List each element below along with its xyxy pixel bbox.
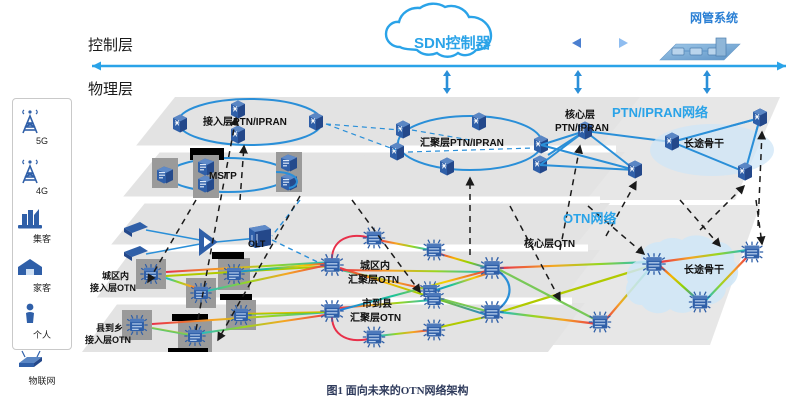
ptn-backbone-label: 长途骨干 — [684, 140, 724, 150]
legend-panel: 5G 4G — [12, 98, 72, 350]
ptn-core-label-line2: PTN/IPRAN — [555, 124, 609, 134]
otn-urban-aggregate-label-line2: 汇聚层OTN — [348, 276, 399, 286]
sdn-controller-label: SDN控制器 — [414, 36, 491, 51]
olt-label: OLT — [248, 240, 265, 249]
otn-backbone-label: 长途骨干 — [684, 266, 724, 276]
otn-core-label: 核心层OTN — [524, 240, 575, 250]
otn-urban-access-label-line1: 城区内 — [102, 272, 129, 281]
enterprise-icon — [13, 205, 47, 231]
legend-item-person[interactable]: 个人 — [13, 301, 71, 341]
iot-router-icon — [13, 349, 47, 373]
figure-caption: 图1 面向未来的OTN网络架构 — [0, 382, 795, 398]
legend-item-4g[interactable]: 4G — [13, 155, 71, 196]
person-icon — [13, 301, 47, 327]
5g-tower-icon — [13, 105, 47, 135]
nms-icon — [660, 38, 740, 60]
otn-county-access-label-line2: 接入层OTN — [85, 336, 131, 345]
otn-city-aggregate-label-line2: 汇聚层OTN — [350, 314, 401, 324]
physical-layer-label: 物理层 — [88, 82, 133, 97]
ptn-access-ring-label: 接入层PTN/IPRAN — [203, 118, 287, 128]
4g-tower-icon — [13, 155, 47, 185]
layer-divider-arrow — [92, 62, 786, 71]
legend-item-enterprise[interactable]: 集客 — [13, 205, 71, 245]
otn-county-access-label-line1: 县到乡 — [96, 324, 123, 333]
otn-urban-access-label-line2: 接入层OTN — [90, 284, 136, 293]
legend-label-home: 家客 — [13, 281, 71, 294]
otn-city-aggregate-label-line1: 市到县 — [362, 300, 392, 310]
otn-urban-aggregate-label-line1: 城区内 — [360, 262, 390, 272]
legend-item-5g[interactable]: 5G — [13, 105, 71, 146]
control-layer-label: 控制层 — [88, 38, 133, 53]
figure-canvas: 控制层 物理层 SDN控制器 网管系统 PTN/IPRAN网络 OTN网络 接入… — [0, 0, 795, 419]
legend-label-enterprise: 集客 — [13, 232, 71, 245]
legend-label-person: 个人 — [13, 328, 71, 341]
ptn-network-title: PTN/IPRAN网络 — [612, 106, 708, 119]
sdn-nms-link-arrow — [572, 38, 628, 48]
legend-label-5g: 5G — [13, 136, 71, 146]
home-icon — [13, 254, 47, 280]
ptn-core-label-line1: 核心层 — [565, 111, 595, 121]
legend-label-4g: 4G — [13, 186, 71, 196]
ptn-aggregate-ring-label: 汇聚层PTN/IPRAN — [420, 139, 504, 149]
nms-label: 网管系统 — [690, 12, 738, 24]
control-to-physical-arrows — [443, 70, 711, 94]
otn-network-title: OTN网络 — [563, 212, 616, 225]
ptn-mstp-label: MSTP — [209, 172, 237, 182]
legend-item-home[interactable]: 家客 — [13, 254, 71, 294]
